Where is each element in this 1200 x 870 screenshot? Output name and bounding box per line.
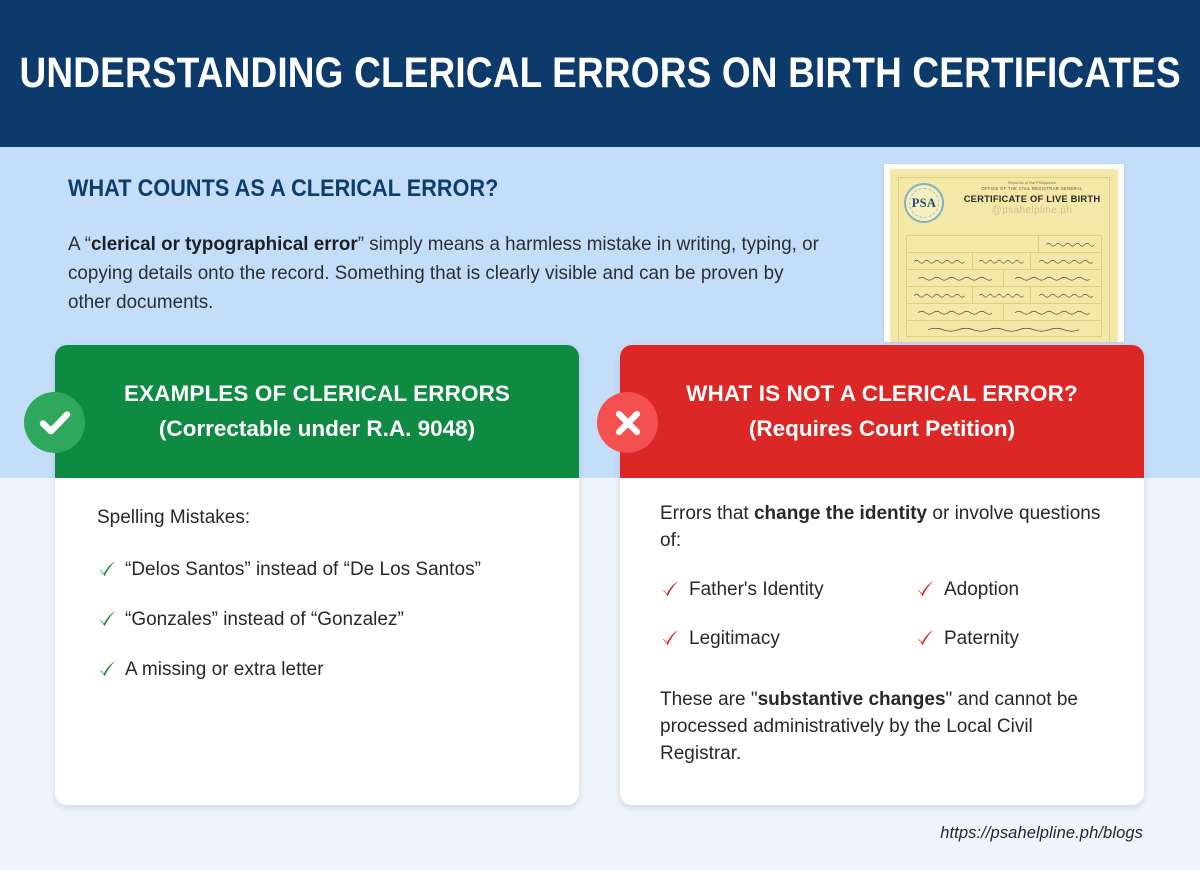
page-header: UNDERSTANDING CLERICAL ERRORS ON BIRTH C… [0, 0, 1200, 147]
intro-heading: WHAT COUNTS AS A CLERICAL ERROR? [68, 175, 779, 203]
handwriting-squiggle-icon [1039, 292, 1093, 298]
identity-errors-lead-part1: Errors that [660, 503, 754, 524]
handwriting-squiggle-icon [979, 258, 1024, 264]
certificate-form-field [1004, 270, 1101, 286]
clerical-errors-list: “Delos Santos” instead of “De Los Santos… [97, 558, 549, 686]
certificate-main-title: CERTIFICATE OF LIVE BIRTH [948, 193, 1116, 204]
check-mark-icon [915, 579, 935, 606]
check-mark-icon [915, 628, 935, 655]
handwriting-squiggle-icon [979, 292, 1024, 298]
handwriting-squiggle-icon [914, 258, 965, 264]
handwriting-squiggle-icon [1046, 241, 1094, 247]
check-mark-icon [97, 559, 117, 586]
certificate-form-row [906, 286, 1102, 303]
page-title: UNDERSTANDING CLERICAL ERRORS ON BIRTH C… [19, 49, 1180, 98]
list-item: Father's Identity [660, 578, 915, 606]
certificate-form-field [907, 287, 973, 303]
list-item-label: A missing or extra letter [125, 658, 324, 682]
not-clerical-errors-card-title: WHAT IS NOT A CLERICAL ERROR? [686, 381, 1078, 407]
psa-seal-label: PSA [912, 196, 937, 211]
certificate-form-row [906, 320, 1102, 337]
identity-errors-lead-emphasis: change the identity [754, 503, 927, 524]
certificate-form-field [907, 321, 1101, 336]
certificate-paper: PSA Republic of the Philippines OFFICE O… [890, 169, 1118, 342]
check-glyph [37, 405, 73, 441]
intro-paragraph: A “clerical or typographical error” simp… [68, 230, 826, 317]
list-item: Paternity [915, 627, 1114, 655]
substantive-changes-emphasis: substantive changes [758, 689, 946, 710]
footer-source-url: https://psahelpline.ph/blogs [940, 824, 1143, 843]
handwriting-squiggle-icon [1015, 309, 1091, 315]
certificate-form-field [973, 287, 1031, 303]
handwriting-squiggle-icon [918, 309, 993, 315]
certificate-form-field [1031, 287, 1101, 303]
clerical-errors-card-header: EXAMPLES OF CLERICAL ERRORS (Correctable… [55, 345, 579, 478]
x-glyph [611, 406, 645, 440]
handwriting-squiggle-icon [1015, 275, 1091, 281]
clerical-errors-card-body: Spelling Mistakes: “Delos Santos” instea… [55, 478, 579, 805]
certificate-form-field [973, 253, 1031, 269]
list-item-label: Legitimacy [689, 627, 780, 651]
certificate-watermark: @psahelpline.ph [948, 205, 1116, 216]
certificate-form-grid [906, 235, 1102, 337]
list-item-label: Paternity [944, 627, 1019, 651]
clerical-errors-card: EXAMPLES OF CLERICAL ERRORS (Correctable… [55, 345, 579, 805]
certificate-form-field [1031, 253, 1101, 269]
not-clerical-errors-card-header: WHAT IS NOT A CLERICAL ERROR? (Requires … [620, 345, 1144, 478]
psa-seal-icon: PSA [904, 183, 944, 223]
list-item: “Gonzales” instead of “Gonzalez” [97, 608, 549, 636]
clerical-errors-card-subtitle: (Correctable under R.A. 9048) [159, 416, 475, 442]
certificate-office-line: OFFICE OF THE CIVIL REGISTRAR GENERAL [948, 186, 1116, 191]
check-circle-icon [24, 392, 85, 453]
substantive-changes-part1: These are " [660, 689, 758, 710]
check-mark-icon [660, 628, 680, 655]
psa-certificate-image: PSA Republic of the Philippines OFFICE O… [884, 164, 1124, 342]
list-item: “Delos Santos” instead of “De Los Santos… [97, 558, 549, 586]
certificate-form-field [907, 270, 1004, 286]
intro-text-emphasis: clerical or typographical error [91, 233, 358, 255]
clerical-errors-card-title: EXAMPLES OF CLERICAL ERRORS [124, 381, 510, 407]
intro-text-part1: A “ [68, 233, 91, 255]
list-item-label: Adoption [944, 578, 1019, 602]
spelling-mistakes-label: Spelling Mistakes: [97, 504, 549, 531]
check-mark-icon [97, 609, 117, 636]
handwriting-squiggle-icon [1039, 258, 1093, 264]
certificate-republic-line: Republic of the Philippines [948, 181, 1116, 185]
handwriting-squiggle-icon [918, 275, 993, 281]
certificate-form-field [907, 304, 1004, 320]
certificate-form-row [906, 252, 1102, 269]
certificate-title-block: Republic of the Philippines OFFICE OF TH… [948, 181, 1116, 216]
identity-errors-lead: Errors that change the identity or invol… [660, 500, 1114, 554]
not-clerical-errors-card-body: Errors that change the identity or invol… [620, 478, 1144, 805]
certificate-form-row [906, 303, 1102, 320]
certificate-form-row [906, 269, 1102, 286]
intro-section: WHAT COUNTS AS A CLERICAL ERROR? A “cler… [68, 175, 858, 317]
certificate-form-field [1039, 236, 1101, 252]
substantive-changes-note: These are "substantive changes" and cann… [660, 686, 1114, 767]
not-clerical-errors-card: WHAT IS NOT A CLERICAL ERROR? (Requires … [620, 345, 1144, 805]
certificate-form-row [906, 235, 1102, 252]
list-item-label: Father's Identity [689, 578, 824, 602]
list-item: Adoption [915, 578, 1114, 606]
handwriting-squiggle-icon [914, 292, 965, 298]
check-mark-icon [97, 659, 117, 686]
not-clerical-errors-card-subtitle: (Requires Court Petition) [749, 416, 1015, 442]
certificate-form-field [1004, 304, 1101, 320]
list-item: A missing or extra letter [97, 658, 549, 686]
not-clerical-errors-list: Father's Identity Adoption Legitimacy Pa… [660, 578, 1114, 655]
list-item-label: “Gonzales” instead of “Gonzalez” [125, 608, 404, 632]
handwriting-squiggle-icon [928, 326, 1079, 332]
certificate-form-field [907, 253, 973, 269]
certificate-form-field [907, 236, 1039, 252]
check-mark-icon [660, 579, 680, 606]
list-item-label: “Delos Santos” instead of “De Los Santos… [125, 558, 481, 582]
list-item: Legitimacy [660, 627, 915, 655]
x-circle-icon [597, 392, 658, 453]
